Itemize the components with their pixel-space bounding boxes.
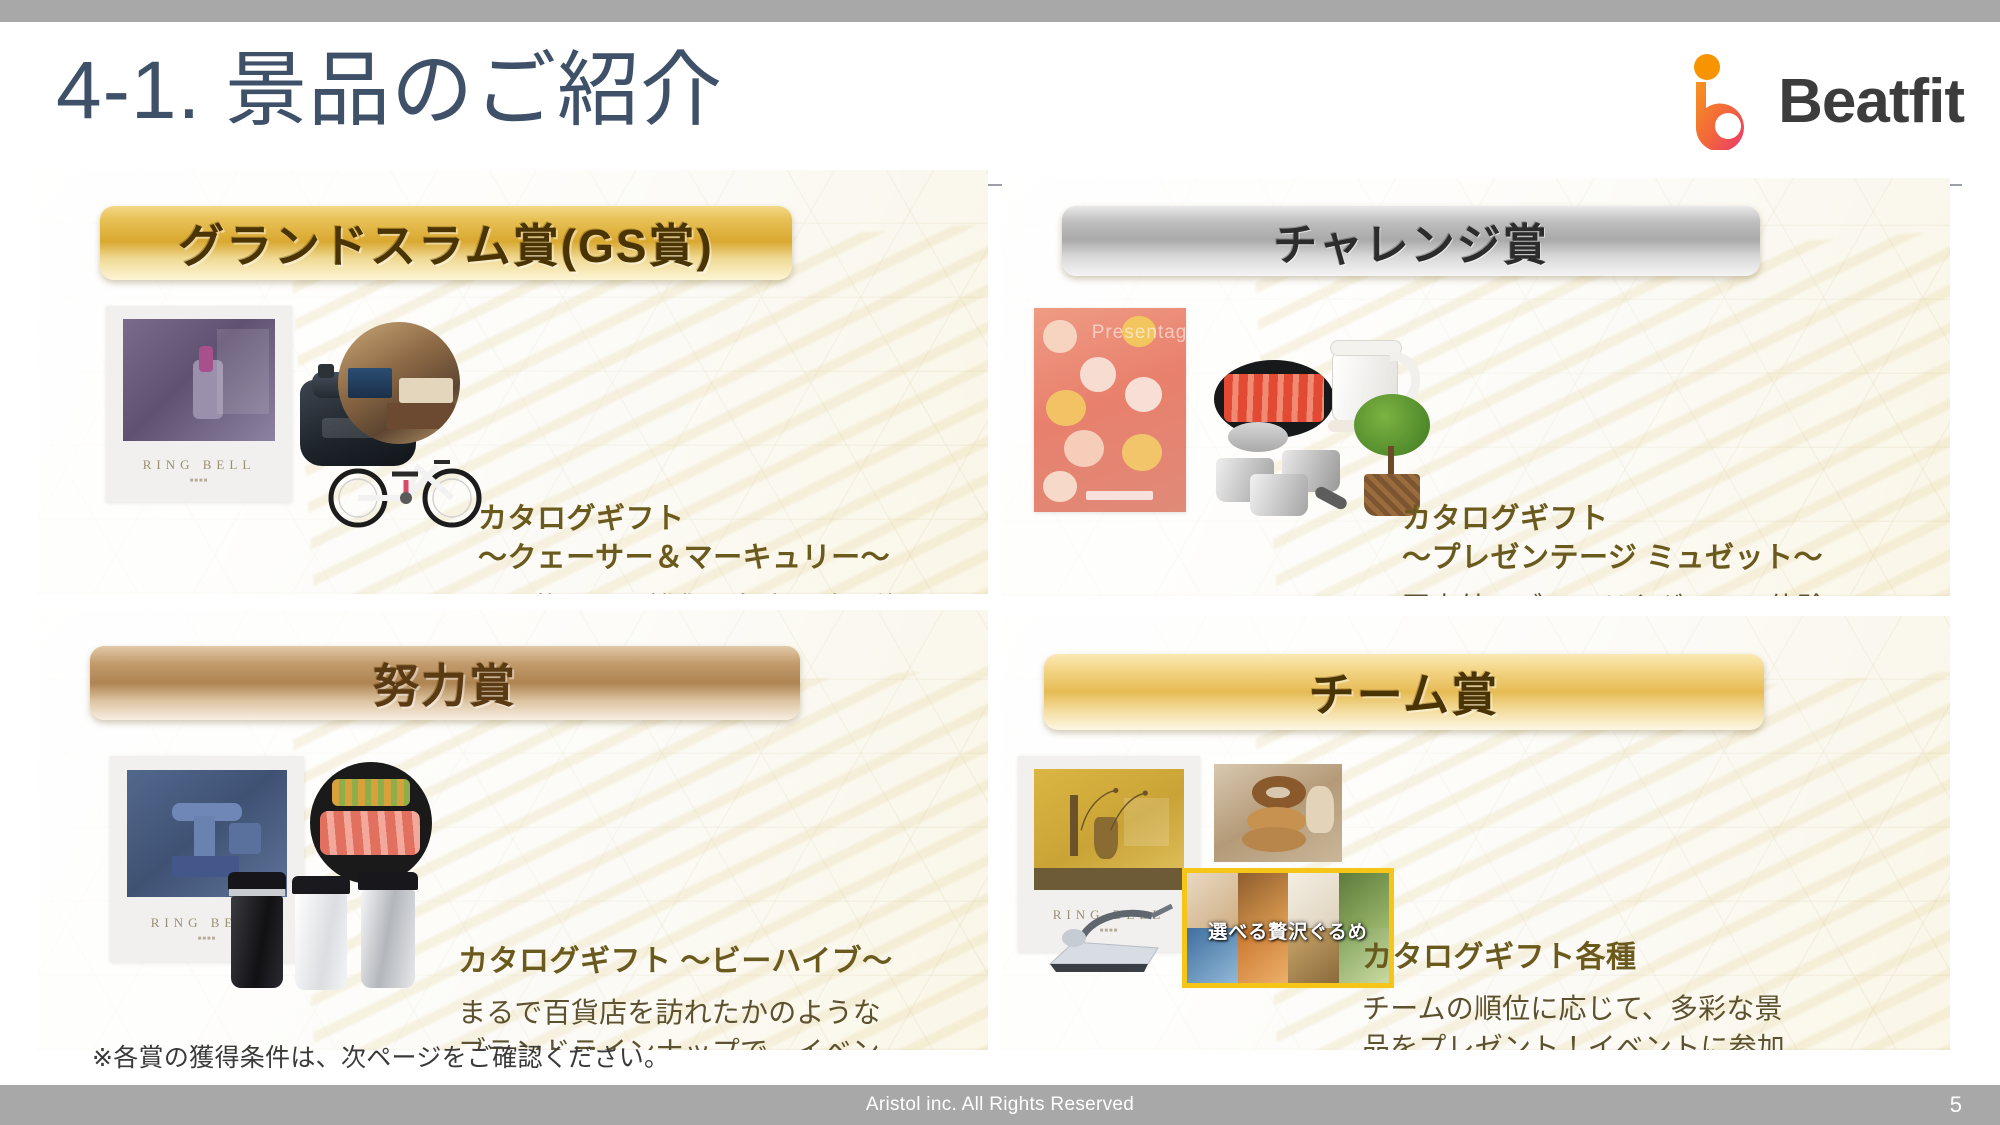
prize-text-team: カタログギフト各種 チームの順位に応じて、多彩な景 品をプレゼント！イベントに参… xyxy=(1362,938,1922,1050)
page-number: 5 xyxy=(1950,1092,1962,1118)
hotel-room-circle-photo xyxy=(338,322,460,444)
logo-b-icon xyxy=(1692,82,1758,150)
prize-banner-label: 努力賞 xyxy=(373,650,517,716)
catalog-sub-label: ■■■■ xyxy=(198,936,217,942)
prize-banner-challenge: チャレンジ賞 xyxy=(1062,206,1760,276)
prize-banner-label: チーム賞 xyxy=(1309,659,1500,725)
prize-body: チームの順位に応じて、多彩な景 品をプレゼント！イベントに参加 した上位チームの… xyxy=(1362,989,1922,1051)
presentage-catalog-rose: Presentage xyxy=(1034,308,1186,512)
cookware-pots-photo xyxy=(1210,416,1356,514)
prize-text-effort: カタログギフト ～ビーハイブ～ まるで百貨店を訪れたかのような ブランドラインナ… xyxy=(458,942,988,1050)
prize-text-challenge: カタログギフト ～プレゼンテージ ミュゼット～ 国内外のブランドやグルメ、体験 … xyxy=(1402,500,1942,596)
prize-banner-team: チーム賞 xyxy=(1044,654,1764,730)
gourmet-grid-label: 選べる贅沢ぐるめ xyxy=(1187,917,1389,944)
catalog-brand-label: Presentage xyxy=(1092,322,1186,344)
prize-cards-grid: グランドスラム賞(GS賞) RING BELL ■■■■ xyxy=(38,170,1962,1050)
prize-text-grand-slam: カタログギフト ～クェーサー＆マーキュリー～ 選び抜かれた雑貨や名店の味、体 験… xyxy=(478,500,988,594)
prize-banner-grand-slam: グランドスラム賞(GS賞) xyxy=(100,206,792,280)
donuts-photo xyxy=(1214,764,1342,862)
page-title: 4-1. 景品のご紹介 xyxy=(56,50,723,132)
prize-card-grand-slam: グランドスラム賞(GS賞) RING BELL ■■■■ xyxy=(38,170,988,594)
catalog-cover-art xyxy=(123,319,276,441)
beatfit-logo-text: Beatfit xyxy=(1778,71,1964,133)
slide-header: 4-1. 景品のご紹介 Beatfit xyxy=(0,22,2000,165)
prize-banner-label: グランドスラム賞(GS賞) xyxy=(178,210,714,276)
prize-body: 国内外のブランドやグルメ、体験 を厳選。選ぶ楽しさと満足感が味 わえるカタログギ… xyxy=(1402,588,1942,596)
prize-card-challenge: チャレンジ賞 Presentage xyxy=(1002,178,1950,596)
tumbler-white-photo xyxy=(288,876,354,992)
beatfit-logo: Beatfit xyxy=(1692,54,1964,150)
beatfit-logo-mark xyxy=(1692,54,1764,150)
prize-body: 選び抜かれた雑貨や名店の味、体 験を味わえる、特別なひとときを 楽しめるカタログ… xyxy=(478,588,988,594)
footnote: ※各賞の獲得条件は、次ページをご確認ください。 xyxy=(92,1038,669,1074)
tumbler-black-photo xyxy=(224,872,290,990)
prize-heading: カタログギフト ～クェーサー＆マーキュリー～ xyxy=(478,500,988,578)
copyright-text: Aristol inc. All Rights Reserved xyxy=(866,1094,1134,1116)
prize-banner-effort: 努力賞 xyxy=(90,646,800,720)
clothes-iron-photo xyxy=(1032,892,1182,984)
logo-dot-icon xyxy=(1694,54,1720,80)
beef-bowl-circle-photo xyxy=(310,762,432,884)
bottom-bar: Aristol inc. All Rights Reserved 5 xyxy=(0,1085,2000,1125)
prize-heading: カタログギフト各種 xyxy=(1362,938,1922,979)
prize-heading: カタログギフト ～プレゼンテージ ミュゼット～ xyxy=(1402,500,1942,578)
ring-bell-catalog-purple: RING BELL ■■■■ xyxy=(106,306,292,502)
tumbler-silver-photo xyxy=(354,872,422,992)
prize-banner-label: チャレンジ賞 xyxy=(1273,209,1549,273)
catalog-brand-label: RING BELL xyxy=(143,457,256,473)
prize-card-effort: 努力賞 RING BELL ■■■■ xyxy=(38,610,988,1050)
catalog-cover-art xyxy=(1034,769,1183,891)
folding-bicycle-photo xyxy=(322,432,490,528)
prize-heading: カタログギフト ～ビーハイブ～ xyxy=(458,942,988,983)
top-decorative-bar xyxy=(0,0,2000,22)
prize-card-team: チーム賞 RING BELL ■■■■ xyxy=(1002,616,1950,1050)
catalog-sub-label: ■■■■ xyxy=(190,478,209,484)
